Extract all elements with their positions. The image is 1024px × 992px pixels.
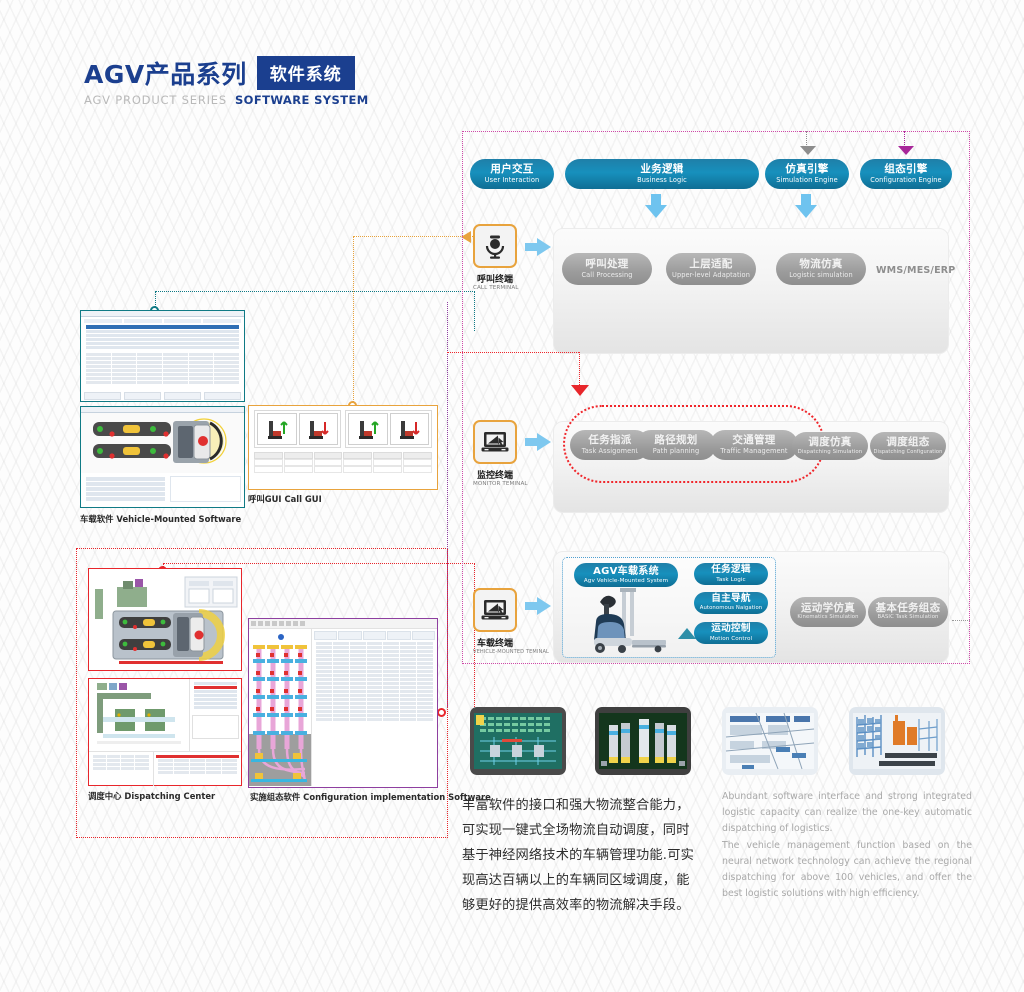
module-traffic-management[interactable]: 交通管理 Traffic Management — [710, 430, 798, 460]
dash-right-return — [952, 620, 970, 621]
thumbnail-rack-3d — [849, 707, 945, 775]
module-dispatching-simulation[interactable]: 调度仿真 Dispatching Simulation — [792, 432, 868, 460]
arrow-right-monitor-tail — [525, 438, 537, 446]
terminal-vehicle-mounted[interactable]: 车载终端 VEHICLE-MOUNTED TEMINAL — [473, 588, 517, 655]
description-english-p2: The vehicle management function based on… — [722, 838, 972, 903]
module-task-logic[interactable]: 任务逻辑 Task Logic — [694, 563, 768, 585]
thumbnail-layout-green — [470, 707, 566, 775]
description-english-p1: Abundant software interface and strong i… — [722, 789, 972, 838]
terminal-monitor[interactable]: 监控终端 MONITOR TEMINAL — [473, 420, 517, 487]
laptop-icon — [473, 588, 517, 632]
description-english: Abundant software interface and strong i… — [722, 789, 972, 902]
module-kinematics-simulation[interactable]: 运动学仿真 Kinematics Simulation — [790, 597, 866, 627]
thumbnail-simulation-dark — [595, 707, 691, 775]
arrow-right-monitor — [537, 433, 551, 451]
laptop-glyph — [481, 598, 509, 622]
agv-forklift-illustration — [578, 588, 674, 660]
module-dispatching-configuration[interactable]: 调度组态 Dispatching Configuration — [870, 432, 946, 460]
module-basic-task-configuration[interactable]: 基本任务组态 BASIC Task Simulation — [868, 597, 948, 627]
laptop-icon — [473, 420, 517, 464]
laptop-glyph — [481, 430, 509, 454]
description-chinese: 丰富软件的接口和强大物流整合能力，可实现一键式全场物流自动调度，同时基于神经网络… — [462, 793, 702, 918]
arrow-right-vehicle-tail — [525, 602, 537, 610]
thumbnail-warehouse-plan — [722, 707, 818, 775]
module-motion-control[interactable]: 运动控制 Motion Control — [694, 622, 768, 644]
module-agv-vehicle-system[interactable]: AGV车载系统 Agv Vehicle-Mounted System — [574, 563, 678, 587]
module-path-planning[interactable]: 路径规划 Path planning — [636, 430, 716, 460]
arrow-right-vehicle — [537, 597, 551, 615]
module-autonomous-navigation[interactable]: 自主导航 Autonomous Naigation — [694, 592, 768, 614]
